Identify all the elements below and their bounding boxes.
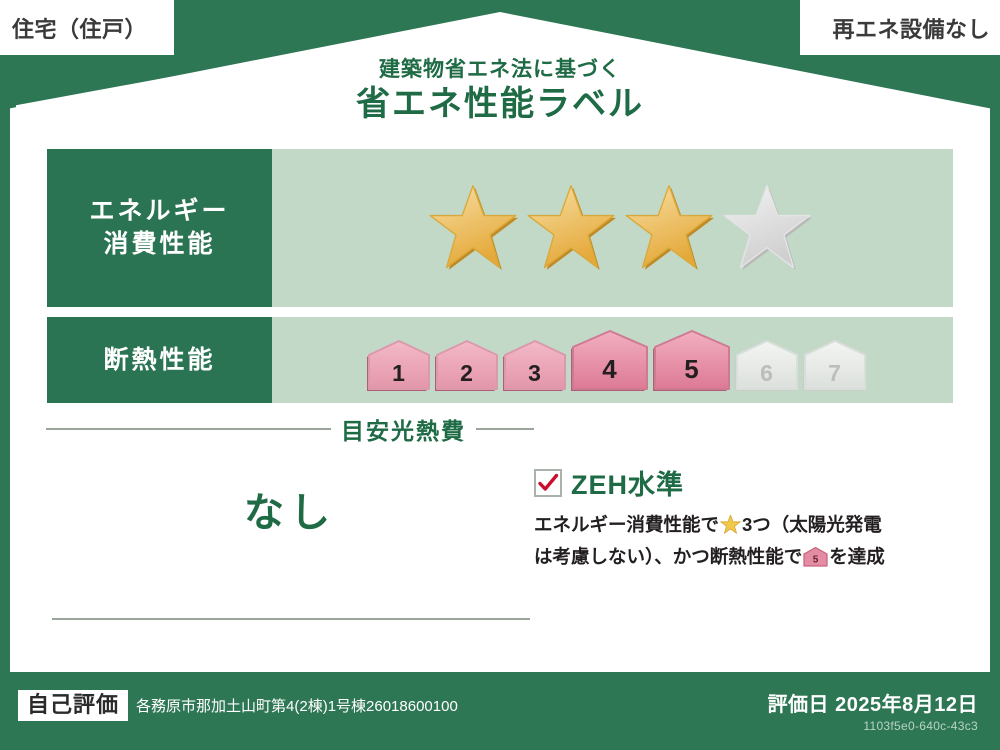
- svg-text:5: 5: [813, 555, 819, 566]
- star-icon-filled: [525, 182, 617, 274]
- insulation-grade-chip: 7: [803, 339, 867, 391]
- zeh-desc-star-count: 3つ（太陽光発電: [742, 514, 882, 535]
- cost-rule-left: [46, 428, 331, 430]
- footer-left: 自己評価 各務原市那加土山町第4(2棟)1号棟26018600100: [18, 690, 458, 721]
- label-title-block: 建築物省エネ法に基づく 省エネ性能ラベル: [0, 58, 1000, 126]
- evaluation-date-value: 2025年8月12日: [835, 694, 978, 716]
- footer-right: 評価日 2025年8月12日 1103f5e0-640c-43c3: [768, 688, 978, 733]
- house-chip-icon: [653, 329, 731, 391]
- house-chip-icon: [571, 329, 649, 391]
- energy-performance-label-line2: 消費性能: [103, 228, 215, 261]
- utility-cost-value: なし: [46, 480, 534, 538]
- insulation-grade-scale: 1234567: [367, 329, 867, 391]
- insulation-grade-chip: 2: [435, 339, 499, 391]
- insulation-grade-chip: 4: [571, 329, 649, 391]
- star-icon-filled: [623, 182, 715, 274]
- insulation-performance-value-cell: 1234567: [272, 317, 953, 403]
- evaluation-code: 1103f5e0-640c-43c3: [768, 719, 978, 733]
- zeh-desc-part2: は考慮しない）、かつ断熱性能で: [534, 546, 802, 567]
- zeh-header: ZEH水準: [534, 463, 954, 502]
- tag-building-type-label: 住宅（住戸）: [12, 12, 147, 44]
- utility-cost-title: 目安光熱費: [331, 412, 476, 446]
- tag-building-type: 住宅（住戸）: [0, 0, 174, 55]
- house-chip-icon: [435, 339, 499, 391]
- energy-performance-row: エネルギー 消費性能: [46, 148, 954, 308]
- energy-performance-label: 住宅（住戸） 再エネ設備なし 建築物省エネ法に基づく 省エネ性能ラベル エネルギ…: [0, 0, 1000, 750]
- label-title: 省エネ性能ラベル: [0, 83, 1000, 126]
- self-evaluation-badge: 自己評価: [18, 690, 128, 721]
- energy-performance-label-cell: エネルギー 消費性能: [47, 149, 272, 307]
- tag-renewable-energy: 再エネ設備なし: [800, 0, 1000, 55]
- star-icon-empty: [721, 182, 813, 274]
- zeh-checkbox[interactable]: [534, 469, 562, 497]
- zeh-section: ZEH水準 エネルギー消費性能で 3つ（太陽光発電 は考慮しない）、かつ断熱性能…: [534, 463, 954, 575]
- cost-rule-right: [476, 428, 534, 430]
- insulation-grade-chip: 1: [367, 339, 431, 391]
- insulation-performance-label-line1: 断熱性能: [103, 344, 215, 377]
- insulation-performance-row: 断熱性能 1234567: [46, 316, 954, 404]
- star-icon-inline: [720, 514, 741, 543]
- insulation-grade-chip: 3: [503, 339, 567, 391]
- property-address: 各務原市那加土山町第4(2棟)1号棟26018600100: [136, 695, 458, 716]
- cost-bottom-divider: [52, 618, 530, 620]
- energy-performance-label-line1: エネルギー: [89, 195, 229, 228]
- label-subtitle: 建築物省エネ法に基づく: [0, 58, 1000, 81]
- zeh-desc-part1: エネルギー消費性能で: [534, 514, 719, 535]
- house-chip-icon: [735, 339, 799, 391]
- house-chip-icon: [503, 339, 567, 391]
- zeh-description: エネルギー消費性能で 3つ（太陽光発電 は考慮しない）、かつ断熱性能で 5 を達…: [534, 511, 954, 575]
- insulation-grade-chip: 6: [735, 339, 799, 391]
- insulation-chip-icon-inline: 5: [803, 546, 828, 575]
- house-chip-icon: [367, 339, 431, 391]
- tag-renewable-energy-label: 再エネ設備なし: [832, 12, 990, 44]
- star-rating: [427, 182, 813, 274]
- evaluation-date: 評価日 2025年8月12日: [768, 688, 978, 717]
- insulation-grade-chip: 5: [653, 329, 731, 391]
- zeh-title: ZEH水準: [571, 463, 684, 502]
- zeh-desc-part3: を達成: [829, 546, 885, 567]
- house-chip-icon: [803, 339, 867, 391]
- evaluation-date-label: 評価日: [768, 694, 830, 716]
- utility-cost-header: 目安光熱費: [46, 412, 534, 446]
- check-icon: [537, 472, 559, 494]
- star-icon-filled: [427, 182, 519, 274]
- energy-performance-value-cell: [272, 149, 953, 307]
- insulation-performance-label-cell: 断熱性能: [47, 317, 272, 403]
